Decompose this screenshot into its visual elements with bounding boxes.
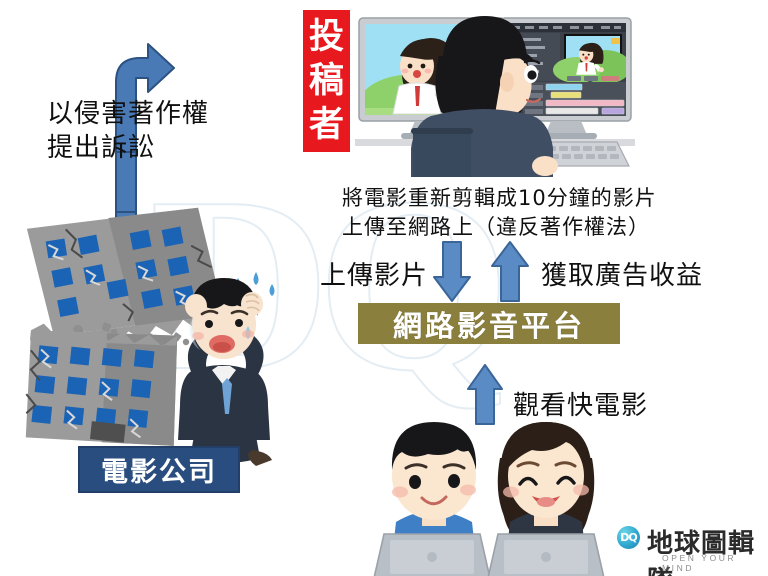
infographic-canvas: DQ 以侵害著作權 提出訴訟 投 稿 者 [0, 0, 768, 576]
dq-badge-icon: DQ [617, 526, 640, 549]
uploader-char-1: 投 [309, 15, 344, 59]
movie-company-label: 電影公司 [78, 446, 240, 493]
platform-label: 網路影音平台 [358, 303, 620, 344]
recut-caption-line2: 上傳至網路上（違反著作權法） [342, 211, 650, 241]
lawsuit-caption-line1: 以侵害著作權 [47, 93, 209, 130]
upload-arrow [432, 241, 472, 303]
uploader-label: 投 稿 者 [303, 10, 350, 152]
lawsuit-caption-line2: 提出訴訟 [47, 127, 155, 164]
recut-caption-line1: 將電影重新剪輯成10分鐘的影片 [342, 182, 657, 212]
building-collapse-illustration [10, 182, 310, 447]
monitor-scene-illustration [355, 12, 635, 177]
uploader-char-2: 稿 [309, 59, 344, 103]
revenue-caption: 獲取廣告收益 [541, 255, 703, 292]
logo-tagline: OPEN YOUR MIND [662, 553, 763, 573]
viewers-illustration [378, 412, 623, 576]
site-logo[interactable]: DQ 地球圖輯隊 OPEN YOUR MIND [617, 524, 763, 568]
revenue-arrow [490, 241, 530, 303]
uploader-char-3: 者 [309, 103, 344, 147]
upload-caption: 上傳影片 [320, 255, 428, 292]
